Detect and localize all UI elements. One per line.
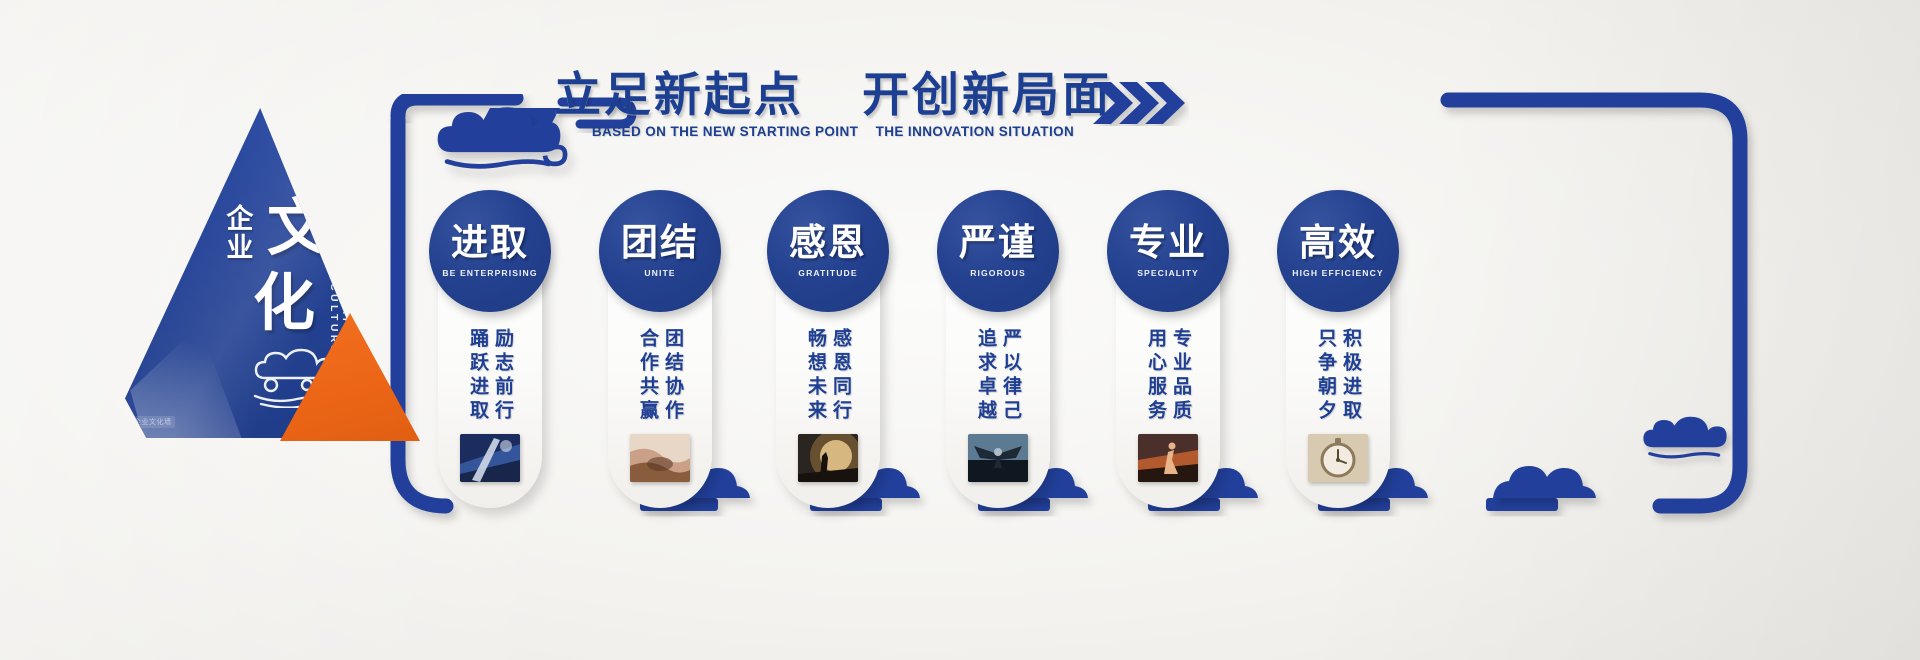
- triple-chevron-right-icon: [1093, 80, 1189, 126]
- value-en-3: GRATITUDE: [798, 268, 857, 278]
- value-photo-1: [460, 434, 520, 482]
- value-mottos-1: 励志前行 踊跃进取: [468, 328, 512, 424]
- headline-block: 立足新起点 开创新局面 BASED ON THE NEW STARTING PO…: [548, 70, 1118, 139]
- value-badge-4[interactable]: 严谨 RIGOROUS: [937, 190, 1059, 312]
- value-pill-5[interactable]: 专业 SPECIALITY 专业品质 用心服务: [1116, 196, 1220, 508]
- value-mottos-4: 严以律己 追求卓越: [976, 328, 1020, 424]
- headline-chinese: 立足新起点 开创新局面: [548, 70, 1118, 121]
- value-motto-left-5: 用心服务: [1146, 328, 1165, 424]
- value-mottos-3: 感恩同行 畅想未来: [806, 328, 850, 424]
- headline-english: BASED ON THE NEW STARTING POINT THE INNO…: [548, 124, 1118, 139]
- value-motto-right-3: 感恩同行: [831, 328, 850, 424]
- headline-cn-right: 开创新局面: [862, 68, 1112, 121]
- value-cn-5: 专业: [1129, 224, 1207, 261]
- culture-wall-stage: 企业 文 化 COMPANY CULTURE 企业文化墙 立足新起点 开创新局面: [0, 0, 1920, 660]
- value-motto-right-6: 积极进取: [1341, 328, 1360, 424]
- value-badge-6[interactable]: 高效 HIGH EFFICIENCY: [1277, 190, 1399, 312]
- value-motto-left-2: 合作共赢: [638, 328, 657, 424]
- value-cn-1: 进取: [451, 224, 529, 261]
- value-pill-4[interactable]: 严谨 RIGOROUS 严以律己 追求卓越: [946, 196, 1050, 508]
- value-motto-right-1: 励志前行: [493, 328, 512, 424]
- value-motto-right-4: 严以律己: [1001, 328, 1020, 424]
- company-culture-logo: 企业 文 化 COMPANY CULTURE 企业文化墙: [125, 108, 390, 438]
- value-mottos-2: 团结协作 合作共赢: [638, 328, 682, 424]
- value-en-6: HIGH EFFICIENCY: [1292, 268, 1383, 278]
- value-en-4: RIGOROUS: [970, 268, 1026, 278]
- value-en-2: UNITE: [644, 268, 675, 278]
- headline-en-right: THE INNOVATION SITUATION: [876, 124, 1075, 139]
- value-motto-right-5: 专业品质: [1171, 328, 1190, 424]
- value-en-1: BE ENTERPRISING: [442, 268, 537, 278]
- value-motto-left-6: 只争朝夕: [1316, 328, 1335, 424]
- logo-gloss-highlight: [130, 313, 241, 438]
- value-pill-6[interactable]: 高效 HIGH EFFICIENCY 积极进取 只争朝夕: [1286, 196, 1390, 508]
- value-badge-1[interactable]: 进取 BE ENTERPRISING: [429, 190, 551, 312]
- value-cn-4: 严谨: [959, 224, 1037, 261]
- value-mottos-6: 积极进取 只争朝夕: [1316, 328, 1360, 424]
- value-badge-5[interactable]: 专业 SPECIALITY: [1107, 190, 1229, 312]
- headline-cn-left: 立足新起点: [554, 68, 804, 121]
- headline-en-left: BASED ON THE NEW STARTING POINT: [592, 124, 858, 139]
- value-photo-5: [1138, 434, 1198, 482]
- value-mottos-5: 专业品质 用心服务: [1146, 328, 1190, 424]
- value-motto-left-3: 畅想未来: [806, 328, 825, 424]
- value-photo-6: [1308, 434, 1368, 482]
- value-cn-3: 感恩: [789, 224, 867, 261]
- value-photo-3: [798, 434, 858, 482]
- value-cn-6: 高效: [1299, 224, 1377, 261]
- logo-cn-prefix: 企业: [223, 204, 251, 262]
- value-pill-1[interactable]: 进取 BE ENTERPRISING 励志前行 踊跃进取: [438, 196, 542, 508]
- value-motto-right-2: 团结协作: [663, 328, 682, 424]
- value-motto-left-1: 踊跃进取: [468, 328, 487, 424]
- value-cn-2: 团结: [621, 224, 699, 261]
- value-badge-2[interactable]: 团结 UNITE: [599, 190, 721, 312]
- value-photo-2: [630, 434, 690, 482]
- value-en-5: SPECIALITY: [1137, 268, 1199, 278]
- value-badge-3[interactable]: 感恩 GRATITUDE: [767, 190, 889, 312]
- value-pill-3[interactable]: 感恩 GRATITUDE 感恩同行 畅想未来: [776, 196, 880, 508]
- logo-watermark: 企业文化墙: [131, 416, 175, 428]
- cloud-ornament-right: [1643, 417, 1726, 457]
- value-motto-left-4: 追求卓越: [976, 328, 995, 424]
- value-pill-2[interactable]: 团结 UNITE 团结协作 合作共赢: [608, 196, 712, 508]
- value-photo-4: [968, 434, 1028, 482]
- logo-cn-hua: 化: [253, 273, 315, 335]
- logo-cn-wen: 文: [267, 198, 329, 260]
